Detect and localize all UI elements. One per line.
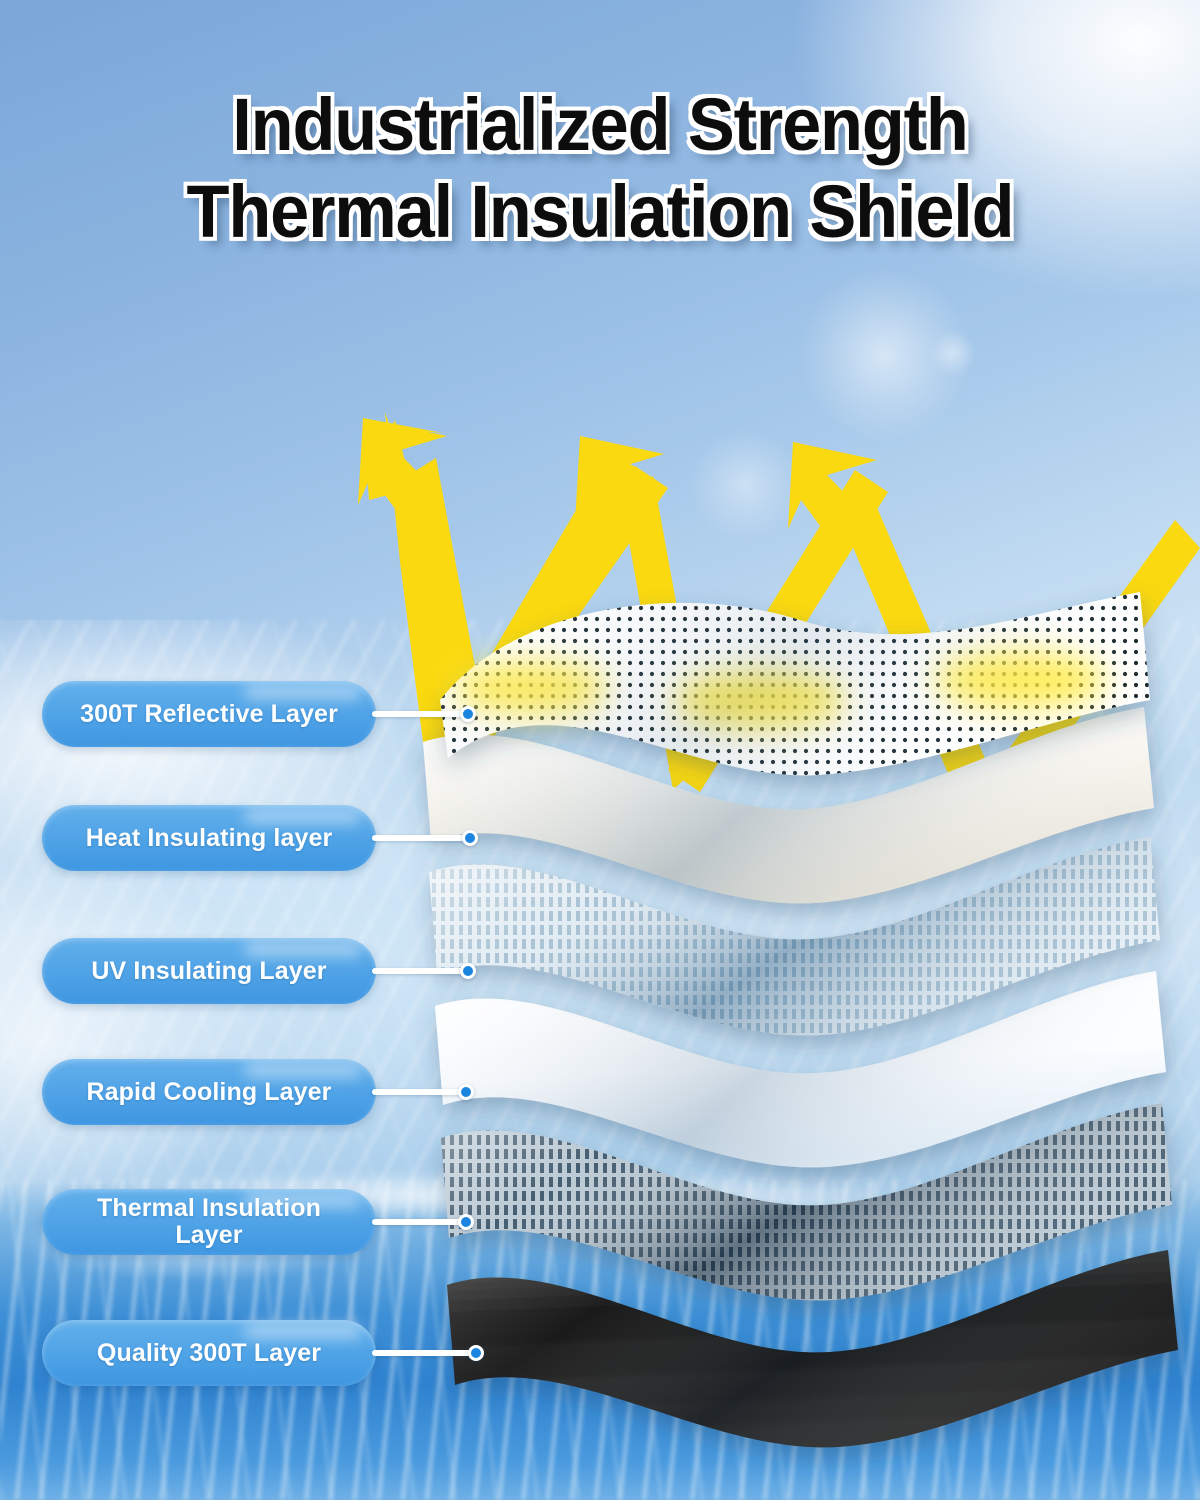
layer-label-list: 300T Reflective Layer Heat Insulating la…: [0, 0, 1200, 1500]
leader-dot-icon-1: [460, 706, 476, 722]
leader-line-2: [372, 835, 470, 841]
leader-dot-icon-6: [468, 1345, 484, 1361]
layer-label-row-5[interactable]: Thermal Insulation Layer: [0, 1189, 376, 1255]
leader-line-1: [372, 711, 468, 717]
leader-dot-icon-2: [462, 830, 478, 846]
layer-label-row-6[interactable]: Quality 300T Layer: [0, 1320, 376, 1386]
leader-dot-icon-4: [458, 1084, 474, 1100]
layer-pill-label: 300T Reflective Layer: [80, 701, 338, 728]
leader-dot-icon-5: [458, 1214, 474, 1230]
layer-pill-label: Quality 300T Layer: [97, 1340, 321, 1367]
layer-pill-quality-300t[interactable]: Quality 300T Layer: [42, 1320, 376, 1386]
leader-line-5: [372, 1219, 466, 1225]
layer-pill-thermal-insulation[interactable]: Thermal Insulation Layer: [42, 1189, 376, 1255]
leader-line-6: [372, 1350, 476, 1356]
leader-dot-icon-3: [460, 963, 476, 979]
layer-pill-label: UV Insulating Layer: [91, 958, 326, 985]
layer-pill-label: Heat Insulating layer: [86, 825, 333, 852]
leader-line-3: [372, 968, 468, 974]
layer-pill-uv-insulating[interactable]: UV Insulating Layer: [42, 938, 376, 1004]
leader-line-4: [372, 1089, 466, 1095]
layer-pill-300t-reflective[interactable]: 300T Reflective Layer: [42, 681, 376, 747]
layer-pill-label: Rapid Cooling Layer: [87, 1079, 332, 1106]
layer-label-row-3[interactable]: UV Insulating Layer: [0, 938, 376, 1004]
layer-label-row-1[interactable]: 300T Reflective Layer: [0, 681, 376, 747]
layer-pill-label: Thermal Insulation Layer: [97, 1195, 321, 1249]
layer-pill-rapid-cooling[interactable]: Rapid Cooling Layer: [42, 1059, 376, 1125]
layer-label-row-2[interactable]: Heat Insulating layer: [0, 805, 376, 871]
layer-pill-heat-insulating[interactable]: Heat Insulating layer: [42, 805, 376, 871]
layer-label-row-4[interactable]: Rapid Cooling Layer: [0, 1059, 376, 1125]
